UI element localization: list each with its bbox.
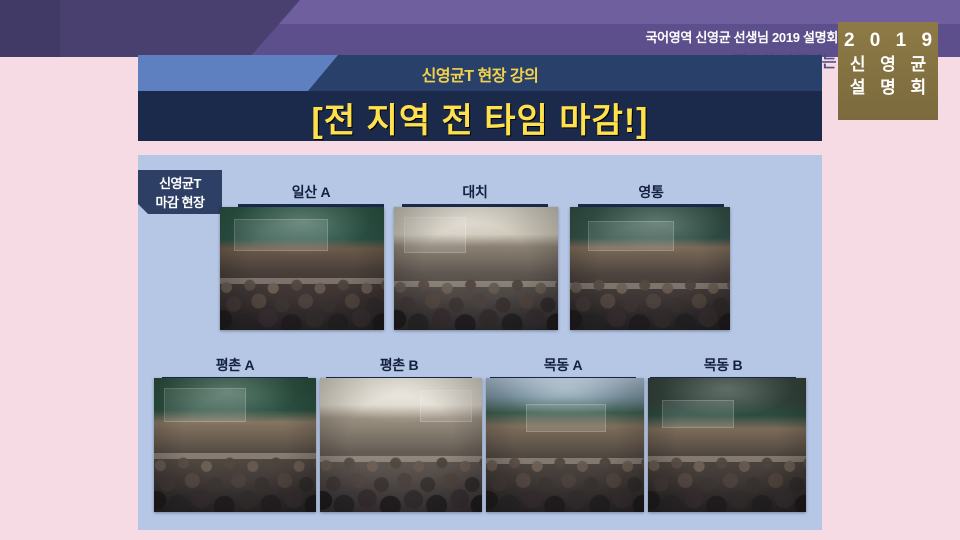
caption-daechi-text: 대치: [462, 184, 487, 200]
caption-yeongtong: 영통: [578, 182, 724, 207]
photo-pyeongchon-b-image: [320, 378, 482, 512]
caption-pyeongchon-a-text: 평촌 A: [216, 357, 255, 373]
title-block: 신영균T 현장 강의 [전 지역 전 타임 마감!]: [138, 55, 822, 141]
photo-daechi-image: [394, 207, 558, 330]
photo-mokdong-a-image: [486, 378, 644, 512]
caption-daechi: 대치: [402, 182, 548, 207]
caption-mokdong-a: 목동 A: [490, 355, 636, 380]
photo-pyeongchon-a: [154, 378, 316, 512]
caption-ilsan-a: 일산 A: [238, 182, 384, 207]
year-badge-line1: 신 영 균: [838, 54, 938, 77]
year-badge-line2: 설 명 회: [838, 77, 938, 100]
photo-vignette: [154, 378, 316, 512]
caption-pyeongchon-b-text: 평촌 B: [380, 357, 419, 373]
photo-ilsan-a: [220, 207, 384, 330]
photo-vignette: [394, 207, 558, 330]
title-subtitle: 신영균T 현장 강의: [138, 62, 822, 86]
corner-tag-line1: 신영균T: [138, 175, 222, 194]
caption-mokdong-a-text: 목동 A: [544, 357, 583, 373]
photo-vignette: [220, 207, 384, 330]
photo-yeongtong: [570, 207, 730, 330]
photo-ilsan-a-image: [220, 207, 384, 330]
photo-mokdong-b: [648, 378, 806, 512]
top-left-strip: [0, 0, 60, 57]
photo-vignette: [648, 378, 806, 512]
photo-mokdong-b-image: [648, 378, 806, 512]
photo-daechi: [394, 207, 558, 330]
photo-pyeongchon-a-image: [154, 378, 316, 512]
page-title: [전 지역 전 타임 마감!]: [138, 93, 822, 142]
photo-vignette: [320, 378, 482, 512]
corner-tag: 신영균T 마감 현장: [138, 170, 222, 214]
corner-tag-line2: 마감 현장: [138, 194, 222, 213]
caption-yeongtong-text: 영통: [638, 184, 663, 200]
caption-mokdong-b: 목동 B: [650, 355, 796, 380]
caption-pyeongchon-a: 평촌 A: [162, 355, 308, 380]
photo-mokdong-a: [486, 378, 644, 512]
photo-pyeongchon-b: [320, 378, 482, 512]
year-badge-year: 2 0 1 9: [838, 28, 938, 54]
slide: 국어영역 신영균 선생님 2019 설명회 접수와 진행되는 2 0 1 9 신…: [0, 0, 960, 540]
caption-pyeongchon-b: 평촌 B: [326, 355, 472, 380]
header-banner-text: 국어영역 신영균 선생님 2019 설명회: [645, 27, 838, 46]
caption-ilsan-a-text: 일산 A: [292, 184, 331, 200]
photo-yeongtong-image: [570, 207, 730, 330]
year-badge: 2 0 1 9 신 영 균 설 명 회: [838, 22, 938, 120]
photo-vignette: [486, 378, 644, 512]
photo-vignette: [570, 207, 730, 330]
caption-mokdong-b-text: 목동 B: [704, 357, 743, 373]
